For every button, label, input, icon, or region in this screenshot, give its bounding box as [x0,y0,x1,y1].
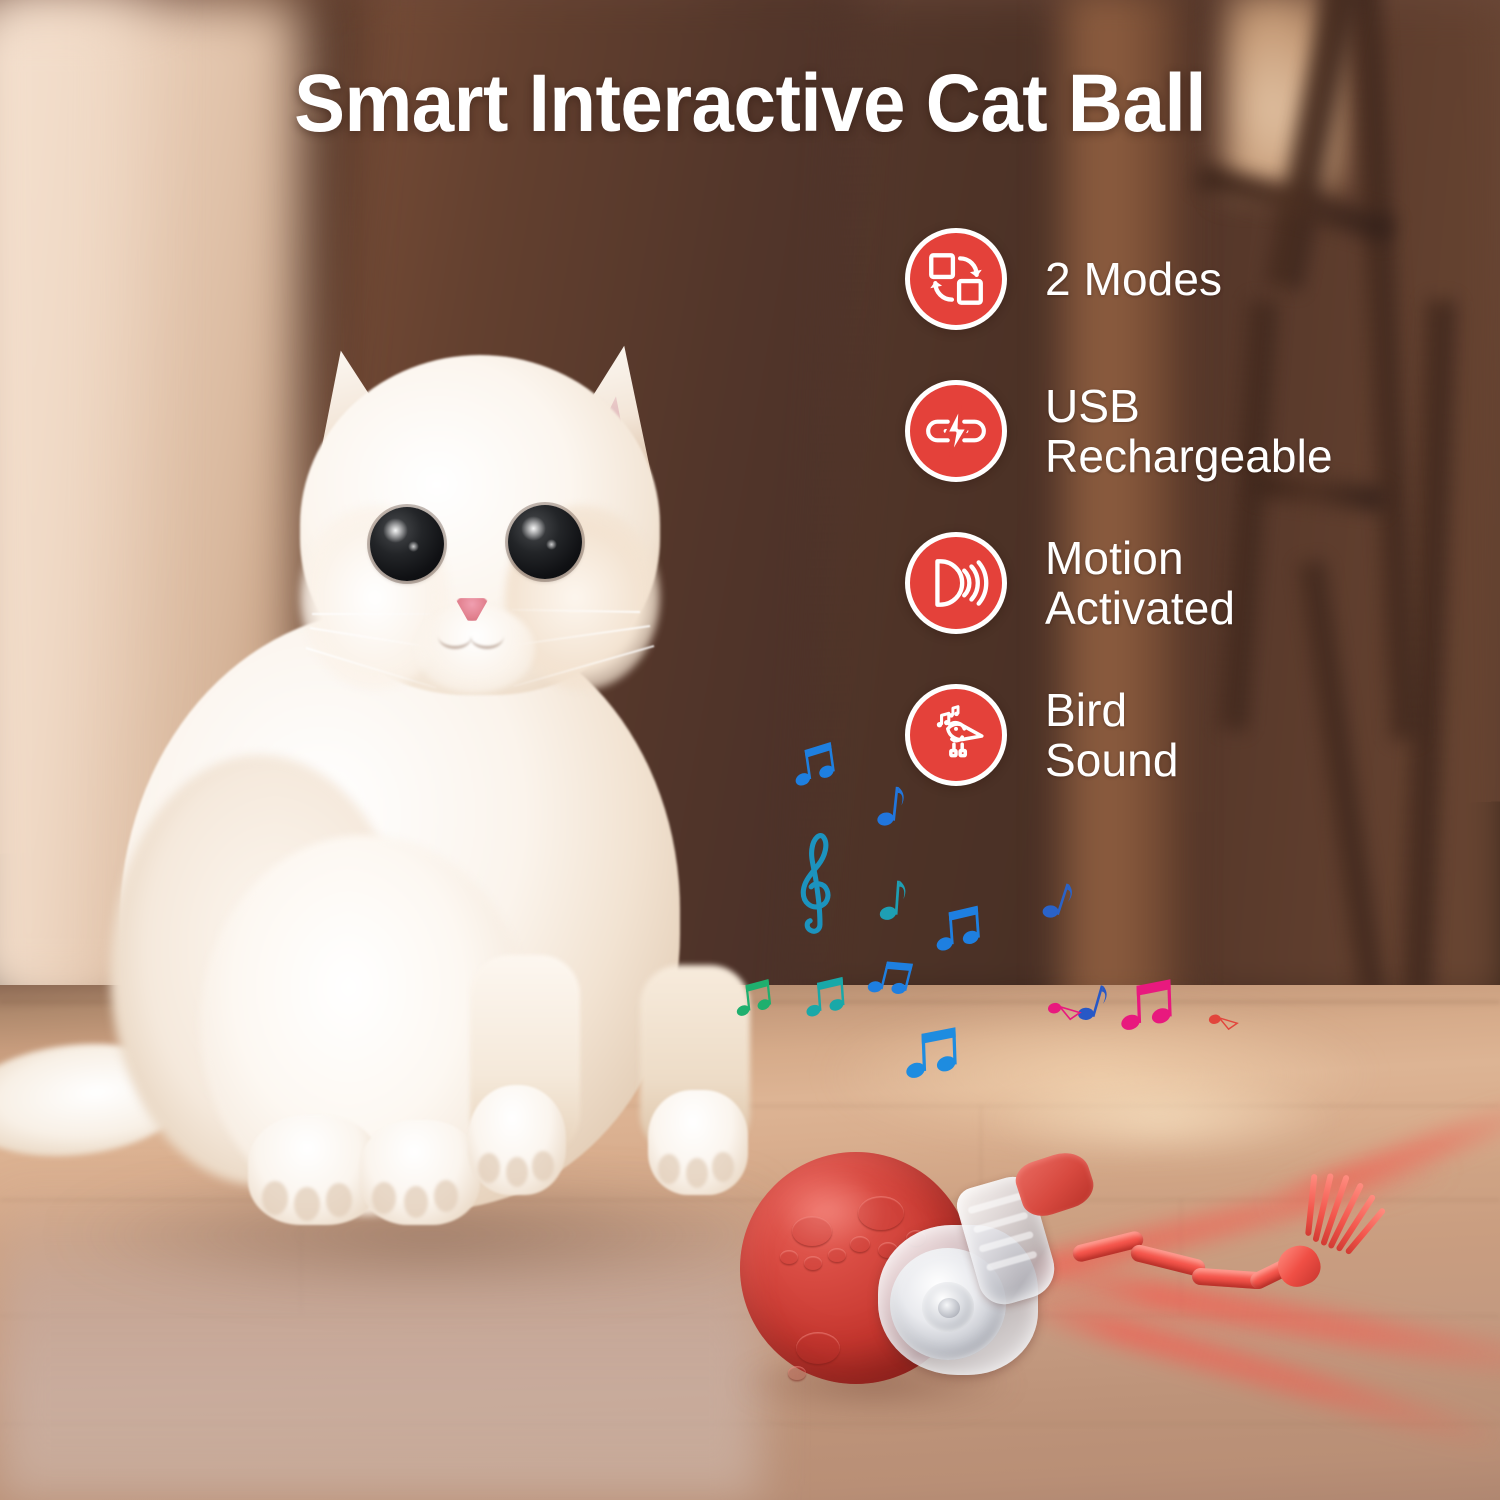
two-modes-swap-icon [905,228,1007,330]
page-title: Smart Interactive Cat Ball [53,58,1448,150]
paw-print-emboss [804,1256,822,1270]
cat-eye-left [370,507,444,581]
feature-list: 2 Modes USB Rechargeable [905,228,1465,836]
product-wheel-axle [938,1298,960,1318]
feature-item-bird-sound: Bird Sound [905,684,1465,786]
paw-print-emboss [850,1236,870,1252]
feature-item-motion-activated: Motion Activated [905,532,1465,634]
feature-label: Motion Activated [1045,533,1235,633]
feature-item-2-modes: 2 Modes [905,228,1465,330]
paw-print-emboss [780,1250,798,1264]
usb-lightning-icon [905,380,1007,482]
feature-label: Bird Sound [1045,685,1179,785]
paw-print-emboss [788,1366,806,1380]
cat-mouth [470,623,504,649]
cat-paw [468,1085,566,1195]
product-marketing-image: Smart Interactive Cat Ball 2 Modes [0,0,1500,1500]
paw-print-emboss [796,1332,840,1364]
product-cat-ball [700,1120,1500,1450]
cat-paw [360,1120,480,1225]
paw-print-emboss [858,1196,904,1230]
cat-photo-subject [0,355,800,1225]
paw-print-emboss [792,1216,832,1246]
feature-label: 2 Modes [1045,254,1222,304]
cat-mouth [438,623,472,649]
paw-print-emboss [828,1248,846,1262]
feature-label: USB Rechargeable [1045,381,1333,481]
motion-sensor-icon [905,532,1007,634]
bird-sound-icon [905,684,1007,786]
cat-eye-right [508,505,582,579]
feature-item-usb-rechargeable: USB Rechargeable [905,380,1465,482]
